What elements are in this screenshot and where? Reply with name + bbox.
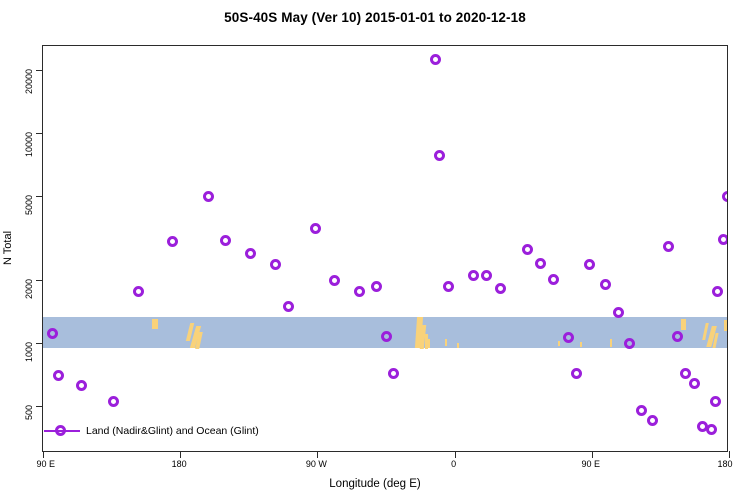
- data-point-marker: [167, 236, 178, 247]
- y-tick-mark: [36, 133, 43, 134]
- data-point-marker: [430, 54, 441, 65]
- x-tick-label: 90 E: [582, 459, 601, 469]
- data-point-marker: [571, 368, 582, 379]
- data-point-marker: [689, 378, 700, 389]
- data-point-marker: [563, 332, 574, 343]
- y-tick-label: 10000: [24, 132, 34, 157]
- y-tick-label: 2000: [24, 279, 34, 299]
- y-axis-title: N Total: [2, 231, 14, 265]
- x-tick-label: 180: [717, 459, 732, 469]
- land-mass-shape: [445, 339, 447, 346]
- land-mass-shape: [457, 343, 459, 347]
- y-tick-mark: [36, 196, 43, 197]
- x-tick-mark: [455, 451, 456, 458]
- data-point-marker: [712, 286, 723, 297]
- y-tick-label: 20000: [24, 69, 34, 94]
- data-point-marker: [381, 331, 392, 342]
- data-point-marker: [481, 270, 492, 281]
- data-point-marker: [76, 380, 87, 391]
- data-point-marker: [388, 368, 399, 379]
- data-point-marker: [133, 286, 144, 297]
- x-tick-mark: [43, 451, 44, 458]
- data-point-marker: [434, 150, 445, 161]
- x-tick-mark: [317, 451, 318, 458]
- data-point-marker: [672, 331, 683, 342]
- y-tick-label: 1000: [24, 342, 34, 362]
- land-mass-shape: [724, 320, 727, 330]
- land-mass-shape: [428, 339, 430, 349]
- land-mass-shape: [558, 341, 560, 346]
- data-point-marker: [613, 307, 624, 318]
- legend-label: Land (Nadir&Glint) and Ocean (Glint): [86, 425, 259, 437]
- data-point-marker: [722, 191, 727, 202]
- y-tick-label: 500: [24, 405, 34, 420]
- data-point-marker: [468, 270, 479, 281]
- data-point-marker: [680, 368, 691, 379]
- data-point-marker: [718, 234, 727, 245]
- data-point-marker: [245, 248, 256, 259]
- data-point-marker: [108, 396, 119, 407]
- data-point-marker: [647, 415, 658, 426]
- data-point-marker: [443, 281, 454, 292]
- data-point-marker: [535, 258, 546, 269]
- x-axis-title: Longitude (deg E): [0, 478, 750, 490]
- data-point-marker: [584, 259, 595, 270]
- x-tick-label: 90 E: [36, 459, 55, 469]
- y-tick-label: 5000: [24, 195, 34, 215]
- y-tick-mark: [36, 70, 43, 71]
- data-point-marker: [636, 405, 647, 416]
- data-point-marker: [371, 281, 382, 292]
- data-point-marker: [329, 275, 340, 286]
- land-mass-shape: [580, 342, 582, 347]
- x-tick-mark: [729, 451, 730, 458]
- data-point-marker: [663, 241, 674, 252]
- data-point-marker: [310, 223, 321, 234]
- data-point-marker: [522, 244, 533, 255]
- data-point-marker: [600, 279, 611, 290]
- data-point-marker: [548, 274, 559, 285]
- plot-area: [43, 46, 727, 451]
- x-tick-mark: [592, 451, 593, 458]
- data-point-marker: [706, 424, 717, 435]
- data-point-marker: [710, 396, 721, 407]
- data-point-marker: [283, 301, 294, 312]
- legend: Land (Nadir&Glint) and Ocean (Glint): [44, 424, 259, 437]
- y-tick-mark: [36, 280, 43, 281]
- data-point-marker: [203, 191, 214, 202]
- data-point-marker: [354, 286, 365, 297]
- land-mass-shape: [152, 319, 158, 330]
- data-point-marker: [53, 370, 64, 381]
- page-title: 50S-40S May (Ver 10) 2015-01-01 to 2020-…: [0, 10, 750, 25]
- y-tick-mark: [36, 343, 43, 344]
- legend-marker-icon: [44, 424, 80, 437]
- x-tick-mark: [180, 451, 181, 458]
- x-tick-label: 90 W: [306, 459, 327, 469]
- plot-axes: [42, 45, 728, 452]
- land-mass-shape: [681, 319, 685, 331]
- data-point-marker: [220, 235, 231, 246]
- x-tick-label: 180: [172, 459, 187, 469]
- data-point-marker: [270, 259, 281, 270]
- x-tick-label: 0: [451, 459, 456, 469]
- data-point-marker: [495, 283, 506, 294]
- land-mass-shape: [610, 339, 612, 346]
- y-tick-mark: [36, 406, 43, 407]
- figure-canvas: 50S-40S May (Ver 10) 2015-01-01 to 2020-…: [0, 0, 750, 500]
